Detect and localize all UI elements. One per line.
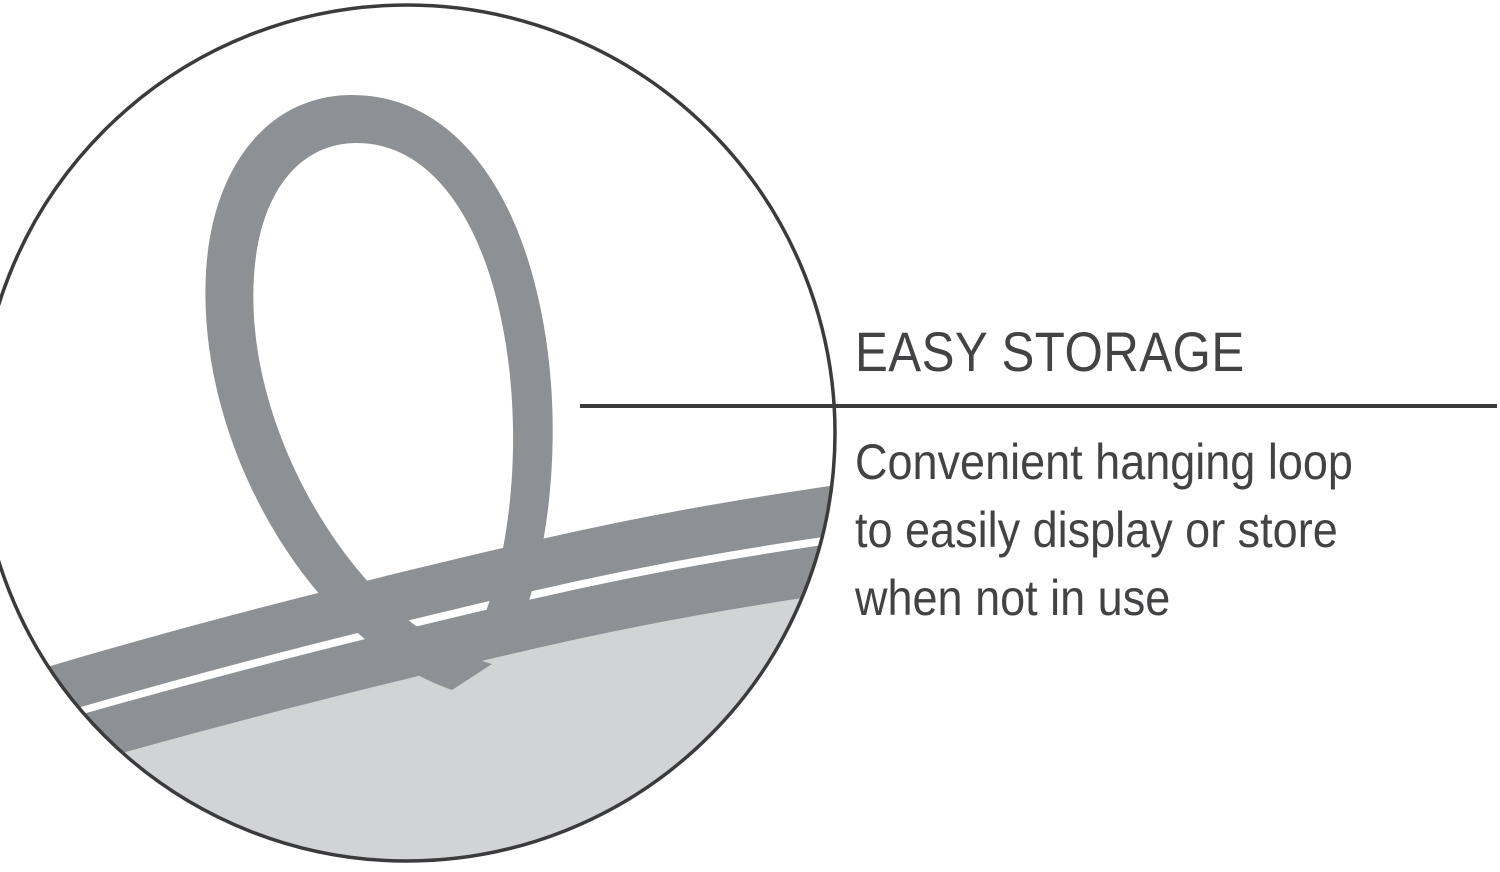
callout-title: EASY STORAGE	[855, 320, 1245, 384]
callout-body-line-2: to easily display or store	[855, 496, 1485, 564]
leader-line	[580, 404, 1497, 408]
callout-body-line-3: when not in use	[855, 564, 1485, 632]
feature-callout-page: EASY STORAGE Convenient hanging loop to …	[0, 0, 1500, 872]
callout-body-line-1: Convenient hanging loop	[855, 428, 1485, 496]
callout-body: Convenient hanging loop to easily displa…	[855, 428, 1485, 632]
callout-block: EASY STORAGE Convenient hanging loop to …	[580, 300, 1500, 680]
